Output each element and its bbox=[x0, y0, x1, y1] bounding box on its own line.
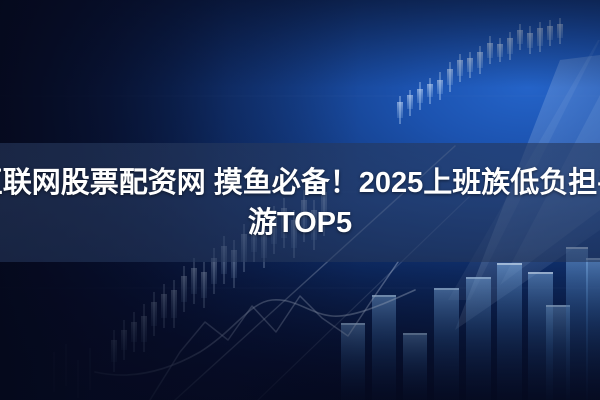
banner-title: 互联网股票配资网 摸鱼必备！2025上班族低负担手 游TOP5 bbox=[0, 143, 600, 262]
banner-image: 互联网股票配资网 摸鱼必备！2025上班族低负担手 游TOP5 bbox=[0, 0, 600, 400]
title-line-1: 互联网股票配资网 摸鱼必备！2025上班族低负担手 bbox=[0, 163, 600, 203]
title-line-2: 游TOP5 bbox=[248, 203, 352, 243]
